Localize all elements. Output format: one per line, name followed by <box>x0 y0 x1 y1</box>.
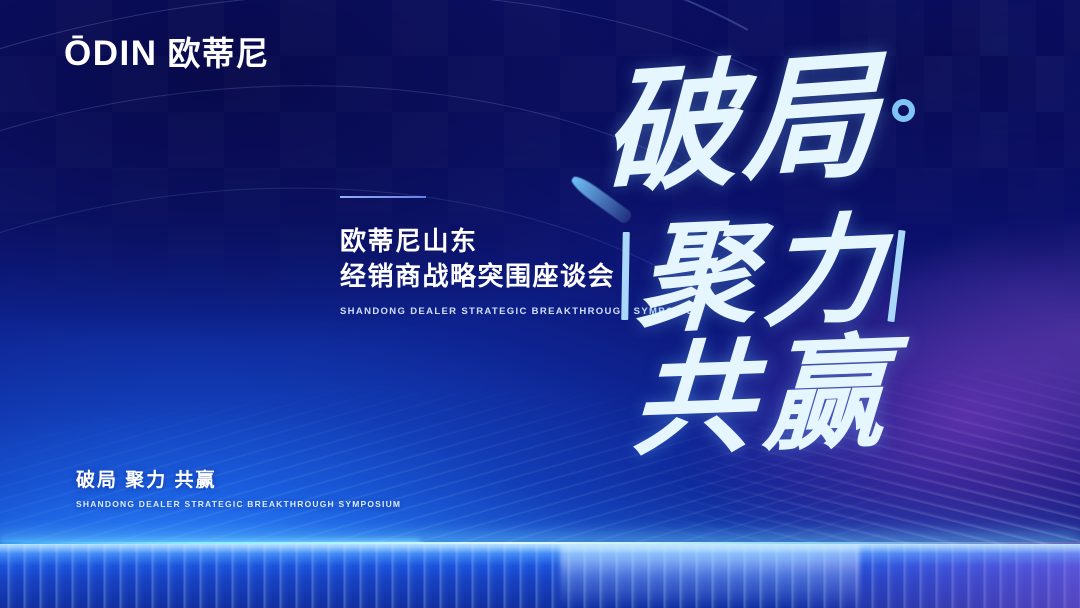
divider-rule <box>340 196 426 198</box>
hero-line-2: 聚力 <box>635 214 893 334</box>
logo-wordmark: ŌDIN <box>64 36 158 71</box>
brand-logo: ŌDIN 欧蒂尼 <box>64 36 270 71</box>
hero-calligraphy: 破局 聚力 共赢 <box>560 52 1030 472</box>
caption-chinese: 破局 聚力 共赢 <box>76 465 401 492</box>
event-backdrop-poster: ŌDIN 欧蒂尼 欧蒂尼山东 经销商战略突围座谈会 SHANDONG DEALE… <box>0 0 1080 608</box>
hero-line-3: 共赢 <box>629 335 899 457</box>
floor-top-glow <box>0 544 1080 566</box>
degree-ring-icon <box>892 99 915 122</box>
caption-english: SHANDONG DEALER STRATEGIC BREAKTHROUGH S… <box>76 499 401 509</box>
logo-chinese-name: 欧蒂尼 <box>168 37 270 70</box>
reflective-floor <box>0 544 1080 608</box>
hero-bracket-left <box>621 232 630 320</box>
hero-line-1: 破局 <box>601 52 883 197</box>
bottom-caption: 破局 聚力 共赢 SHANDONG DEALER STRATEGIC BREAK… <box>76 465 401 509</box>
